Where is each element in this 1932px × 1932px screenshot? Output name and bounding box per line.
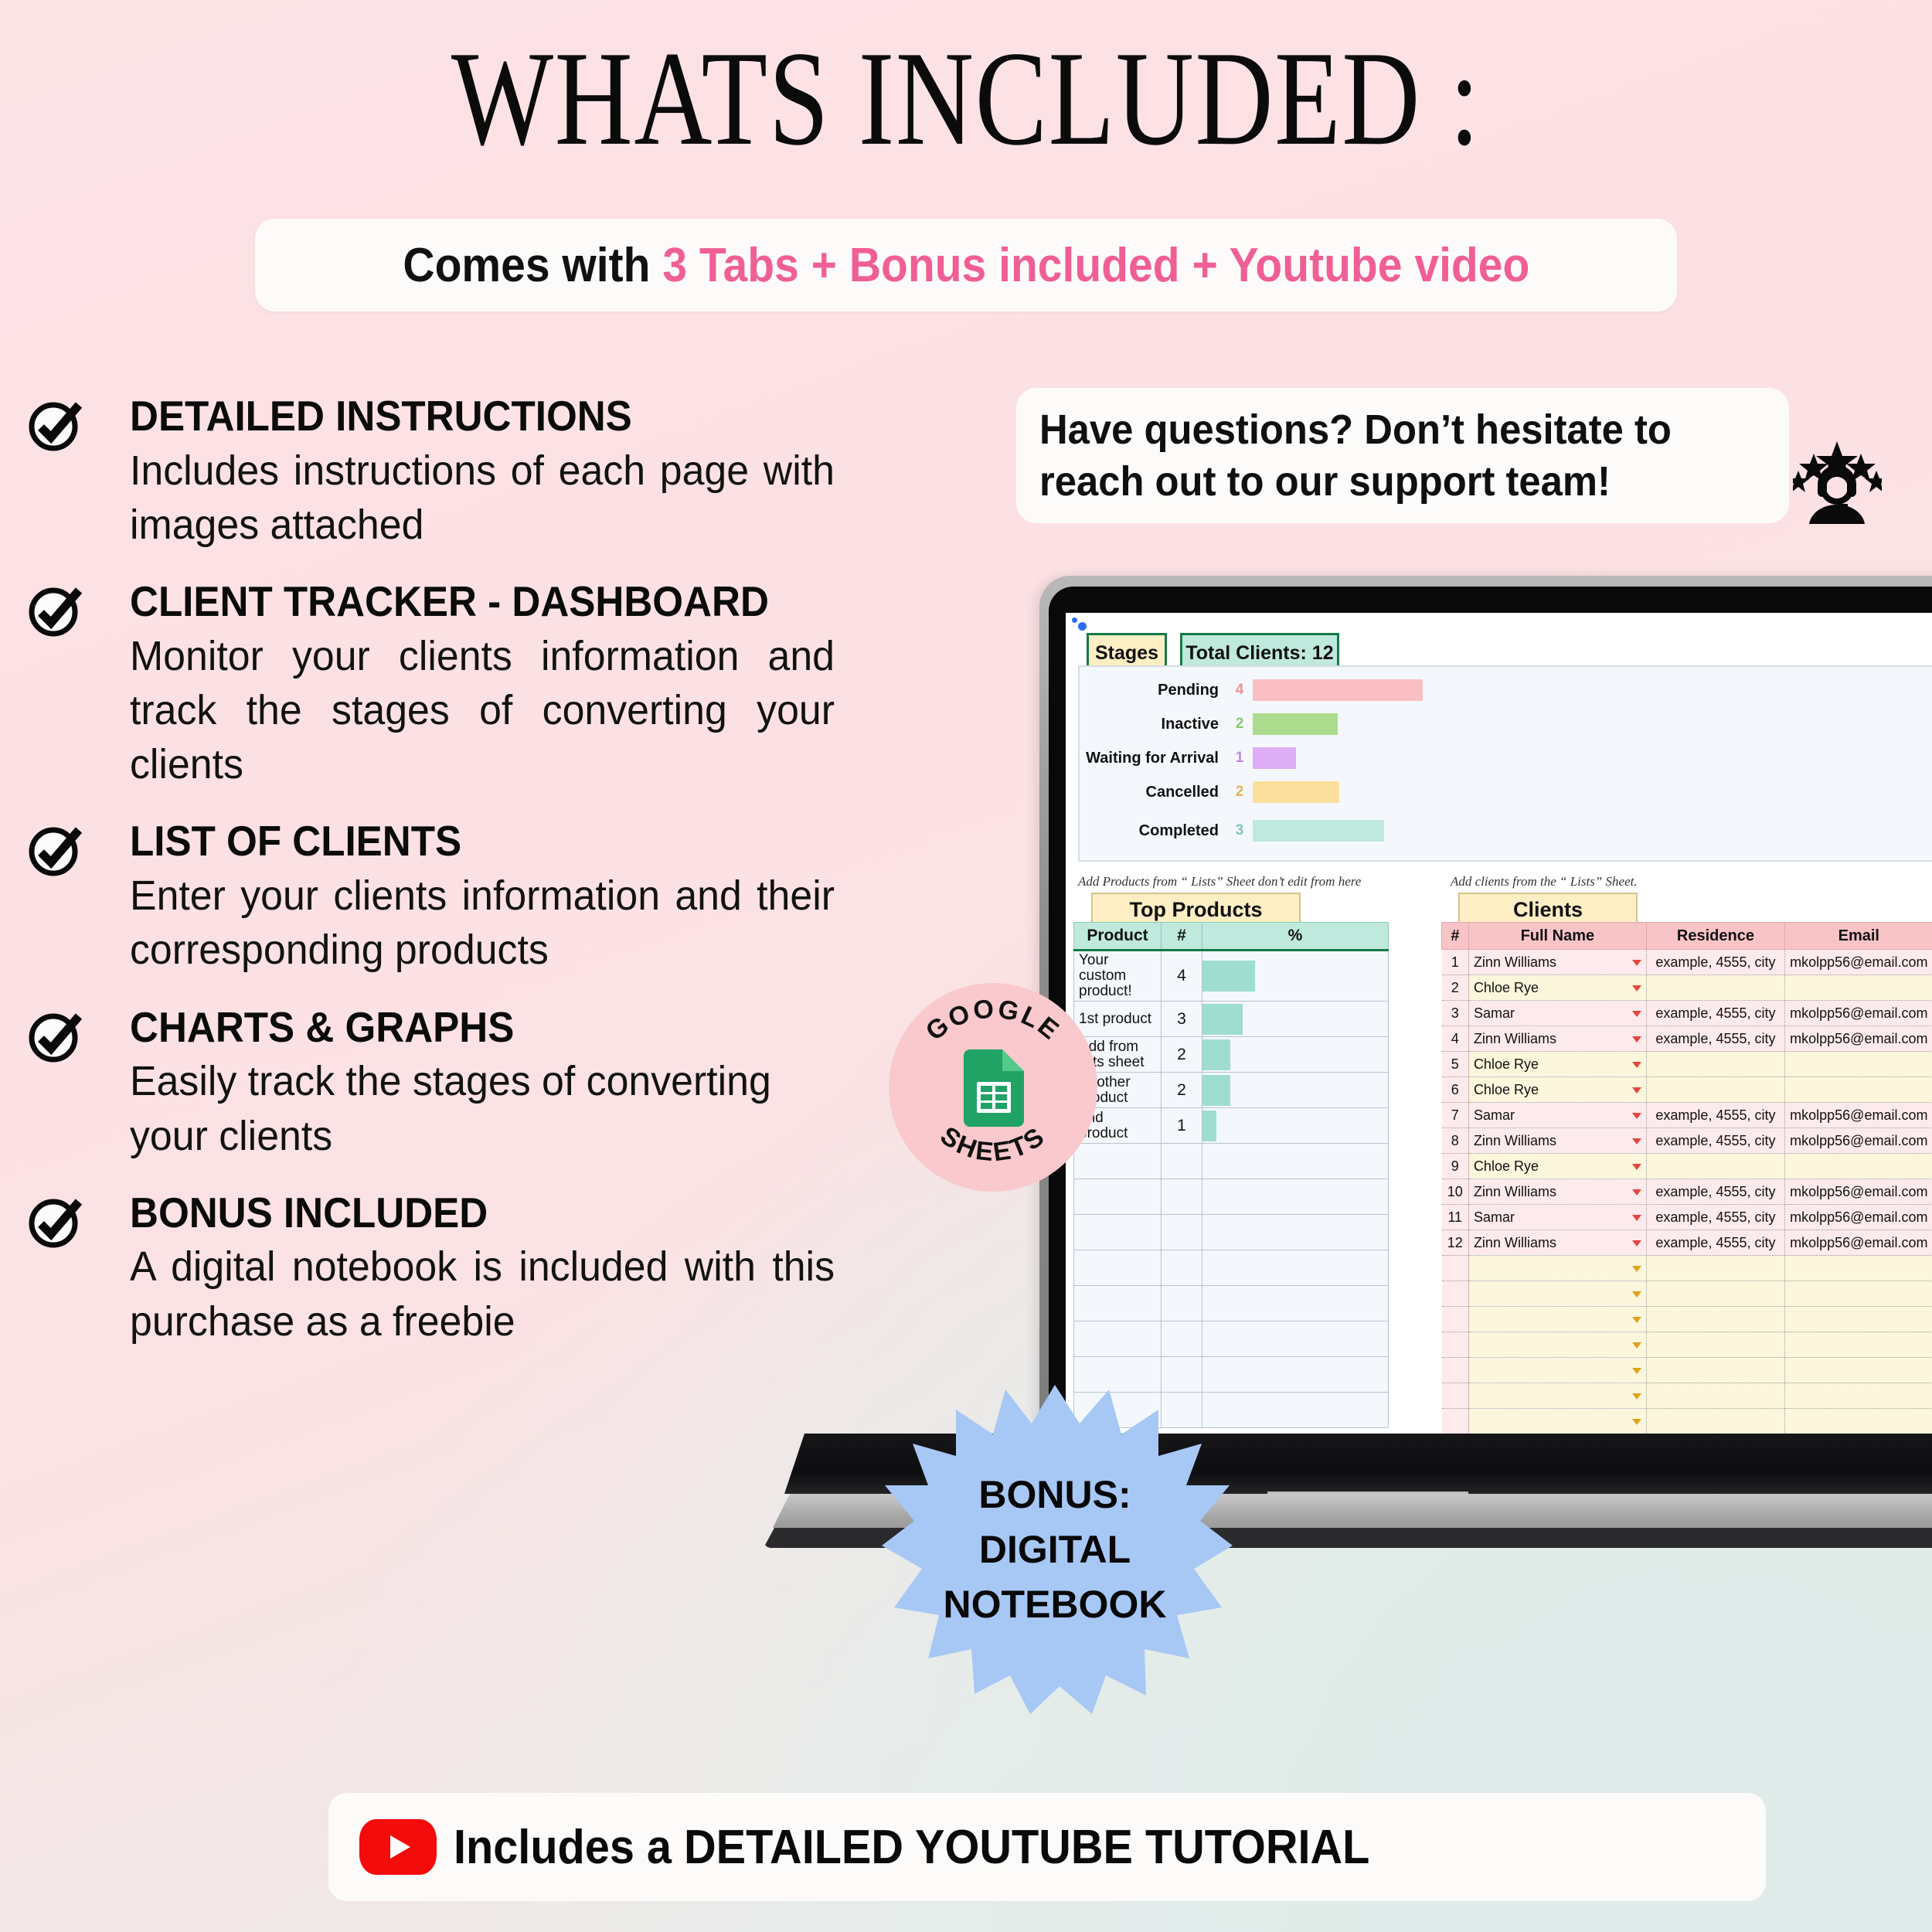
comes-with-prefix: Comes with (403, 239, 662, 292)
client-row-number: 6 (1442, 1077, 1469, 1103)
client-residence: example, 4555, city (1646, 1230, 1784, 1256)
bonus-line-1: BONUS: (978, 1468, 1131, 1522)
bar-category-label: Cancelled (1080, 784, 1226, 801)
table-row[interactable] (1442, 1307, 1932, 1332)
client-residence: example, 4555, city (1646, 1103, 1784, 1128)
product-count: 1 (1162, 1108, 1202, 1144)
feature-title: CLIENT TRACKER - DASHBOARD (130, 580, 864, 624)
bar-fill (1253, 713, 1338, 735)
product-count: 2 (1162, 1037, 1202, 1073)
dropdown-arrow-icon[interactable] (1632, 1266, 1641, 1272)
product-bar-cell (1202, 1073, 1389, 1108)
support-agent-stars-icon (1793, 437, 1882, 526)
empty-cell (1646, 1281, 1784, 1307)
check-circle-icon (28, 1194, 83, 1250)
products-hint-text: Add Products from “ Lists” Sheet don’t e… (1078, 874, 1361, 889)
client-residence (1646, 1077, 1784, 1103)
product-bar-cell (1202, 1037, 1389, 1073)
empty-cell (1468, 1358, 1646, 1383)
product-count: 4 (1162, 951, 1202, 1002)
dropdown-arrow-icon[interactable] (1632, 1291, 1641, 1298)
table-row[interactable]: 9Chloe Rye (1442, 1154, 1932, 1179)
dropdown-arrow-icon[interactable] (1632, 1240, 1641, 1247)
table-row[interactable]: 1st product 3 (1074, 1002, 1389, 1037)
client-email: mkolpp56@email.com (1785, 1205, 1932, 1230)
table-row[interactable] (1074, 1215, 1389, 1250)
client-email (1785, 1077, 1932, 1103)
empty-cell (1442, 1307, 1469, 1332)
empty-cell (1468, 1256, 1646, 1281)
youtube-tutorial-banner: Includes a DETAILED YOUTUBE TUTORIAL (328, 1793, 1766, 1901)
bar-fill (1202, 1039, 1230, 1070)
table-row[interactable]: 6Chloe Rye (1442, 1077, 1932, 1103)
dropdown-arrow-icon[interactable] (1632, 1011, 1641, 1017)
feature-body: A digital notebook is included with this… (130, 1240, 835, 1348)
dropdown-arrow-icon[interactable] (1632, 985, 1641, 992)
empty-cell (1442, 1332, 1469, 1358)
stages-bar-chart: Pending 4 Inactive 2 Waiting for Arrival… (1078, 665, 1932, 862)
empty-cell (1785, 1383, 1932, 1409)
empty-cell (1785, 1332, 1932, 1358)
empty-cell (1442, 1409, 1469, 1434)
bar-category-label: Waiting for Arrival (1080, 750, 1226, 767)
support-line-1: Have questions? Don’t hesitate to (1039, 404, 1672, 456)
dropdown-arrow-icon[interactable] (1632, 1087, 1641, 1094)
check-circle-icon (28, 822, 83, 878)
empty-cell (1468, 1409, 1646, 1434)
bar-fill (1253, 820, 1384, 842)
column-header: Full Name (1468, 923, 1646, 950)
client-full-name: Zinn Williams (1468, 1128, 1646, 1154)
dropdown-arrow-icon[interactable] (1632, 960, 1641, 966)
bar-fill (1202, 1111, 1216, 1141)
table-row[interactable]: 10Zinn Williamsexample, 4555, citymkolpp… (1442, 1179, 1932, 1205)
bar-category-label: Inactive (1080, 716, 1226, 733)
table-row[interactable]: Your custom product! 4 (1074, 951, 1389, 1002)
chart-bar-row: Waiting for Arrival 1 (1080, 741, 1932, 775)
cursor-indicator (1078, 622, 1087, 631)
client-email: mkolpp56@email.com (1785, 1230, 1932, 1256)
feature-body: Easily track the stages of converting yo… (130, 1054, 835, 1162)
table-row[interactable]: 5Chloe Rye (1442, 1052, 1932, 1077)
column-header: # (1442, 923, 1469, 950)
product-bar-cell (1202, 951, 1389, 1002)
column-header: Email (1785, 923, 1932, 950)
client-residence (1646, 1154, 1784, 1179)
table-row[interactable]: 7Samarexample, 4555, citymkolpp56@email.… (1442, 1103, 1932, 1128)
client-residence (1646, 975, 1784, 1001)
table-header-row: Product # % (1074, 923, 1389, 951)
feature-title: CHARTS & GRAPHS (130, 1005, 864, 1050)
empty-cell (1468, 1307, 1646, 1332)
client-residence (1646, 1052, 1784, 1077)
empty-cell (1785, 1358, 1932, 1383)
empty-cell (1646, 1409, 1784, 1434)
feature-body: Enter your clients information and their… (130, 869, 835, 977)
table-row[interactable] (1442, 1409, 1932, 1434)
column-header: Residence (1646, 923, 1784, 950)
empty-cell (1442, 1383, 1469, 1409)
client-residence: example, 4555, city (1646, 1026, 1784, 1052)
bar-fill (1253, 781, 1339, 803)
table-row[interactable] (1074, 1321, 1389, 1357)
table-row[interactable] (1442, 1281, 1932, 1307)
table-row[interactable] (1442, 1332, 1932, 1358)
support-callout-text: Have questions? Don’t hesitate to reach … (1039, 404, 1672, 508)
comes-with-accent: 3 Tabs + Bonus included + Youtube video (662, 239, 1529, 292)
client-residence: example, 4555, city (1646, 950, 1784, 975)
table-row[interactable]: 4Zinn Williamsexample, 4555, citymkolpp5… (1442, 1026, 1932, 1052)
table-row[interactable]: Add from lists sheet 2 (1074, 1037, 1389, 1073)
support-callout: Have questions? Don’t hesitate to reach … (1016, 388, 1789, 523)
google-word: GOOGLE (920, 994, 1066, 1046)
dropdown-arrow-icon[interactable] (1632, 1317, 1641, 1323)
bar-fill (1253, 679, 1423, 701)
feature-body: Includes instructions of each page with … (130, 444, 835, 552)
table-row[interactable] (1442, 1256, 1932, 1281)
dropdown-arrow-icon[interactable] (1632, 1113, 1641, 1119)
clients-table: # Full Name Residence Email Phone Custom… (1441, 922, 1932, 1434)
empty-cell (1646, 1358, 1784, 1383)
client-full-name: Zinn Williams (1468, 1026, 1646, 1052)
bar-category-label: Completed (1080, 823, 1226, 839)
empty-cell (1442, 1358, 1469, 1383)
clients-hint-text: Add clients from the “ Lists” Sheet. (1451, 874, 1638, 889)
empty-cell (1646, 1256, 1784, 1281)
bonus-badge-text: BONUS: DIGITAL NOTEBOOK (877, 1383, 1233, 1716)
client-email: mkolpp56@email.com (1785, 1001, 1932, 1026)
column-header: Product (1074, 923, 1162, 951)
empty-cell (1646, 1307, 1784, 1332)
client-row-number: 11 (1442, 1205, 1469, 1230)
products-hint: Add Products from “ Lists” Sheet don’t e… (1078, 874, 1361, 889)
table-row[interactable] (1442, 1358, 1932, 1383)
feature-list: DETAILED INSTRUCTIONS Includes instructi… (23, 394, 920, 1376)
client-full-name: Zinn Williams (1468, 1179, 1646, 1205)
client-full-name: Samar (1468, 1001, 1646, 1026)
bar-value-label: 4 (1226, 682, 1253, 699)
table-row[interactable]: 2Chloe Rye (1442, 975, 1932, 1001)
client-row-number: 4 (1442, 1026, 1469, 1052)
client-row-number: 12 (1442, 1230, 1469, 1256)
sheets-word: SHEETS (935, 1121, 1052, 1167)
bar-value-label: 2 (1226, 716, 1253, 733)
check-circle-icon (28, 583, 83, 638)
feature-title: LIST OF CLIENTS (130, 819, 864, 864)
client-full-name: Chloe Rye (1468, 1077, 1646, 1103)
client-email (1785, 1154, 1932, 1179)
feature-item-bonus-included: BONUS INCLUDED A digital notebook is inc… (23, 1191, 920, 1349)
client-full-name: Zinn Williams (1468, 950, 1646, 975)
empty-cell (1785, 1409, 1932, 1434)
bar-fill (1202, 1075, 1230, 1106)
dropdown-arrow-icon[interactable] (1632, 1393, 1641, 1400)
table-row[interactable]: 2nd product 1 (1074, 1108, 1389, 1144)
bar-fill (1202, 1004, 1243, 1035)
table-row[interactable] (1074, 1250, 1389, 1286)
empty-cell (1785, 1307, 1932, 1332)
clients-table-body: 1Zinn Williamsexample, 4555, citymkolpp5… (1442, 950, 1932, 1434)
laptop-mockup: Stages Total Clients: 12 Pending 4 Inact… (1039, 576, 1932, 1434)
feature-title: BONUS INCLUDED (130, 1191, 864, 1236)
client-full-name: Samar (1468, 1103, 1646, 1128)
empty-cell (1442, 1281, 1469, 1307)
product-count: 3 (1162, 1002, 1202, 1037)
client-full-name: Zinn Williams (1468, 1230, 1646, 1256)
table-row[interactable]: 12Zinn Williamsexample, 4555, citymkolpp… (1442, 1230, 1932, 1256)
client-full-name: Chloe Rye (1468, 1154, 1646, 1179)
client-email: mkolpp56@email.com (1785, 1128, 1932, 1154)
client-row-number: 7 (1442, 1103, 1469, 1128)
empty-cell (1785, 1281, 1932, 1307)
empty-cell (1785, 1256, 1932, 1281)
dropdown-arrow-icon[interactable] (1632, 1164, 1641, 1170)
bar-value-label: 2 (1226, 784, 1253, 801)
client-email: mkolpp56@email.com (1785, 1103, 1932, 1128)
page-title: WHATS INCLUDED : (193, 31, 1739, 166)
comes-with-banner: Comes with 3 Tabs + Bonus included + You… (255, 219, 1677, 311)
client-residence: example, 4555, city (1646, 1205, 1784, 1230)
client-residence: example, 4555, city (1646, 1179, 1784, 1205)
dropdown-arrow-icon[interactable] (1632, 1368, 1641, 1374)
feature-item-list-of-clients: LIST OF CLIENTS Enter your clients infor… (23, 819, 920, 977)
client-row-number: 5 (1442, 1052, 1469, 1077)
dropdown-arrow-icon[interactable] (1632, 1189, 1641, 1196)
table-row[interactable] (1074, 1179, 1389, 1215)
comes-with-text: Comes with 3 Tabs + Bonus included + You… (403, 238, 1529, 293)
empty-cell (1646, 1383, 1784, 1409)
client-row-number: 3 (1442, 1001, 1469, 1026)
product-bar-cell (1202, 1108, 1389, 1144)
client-row-number: 9 (1442, 1154, 1469, 1179)
laptop-screen: Stages Total Clients: 12 Pending 4 Inact… (1066, 613, 1932, 1434)
dropdown-arrow-icon[interactable] (1632, 1138, 1641, 1145)
client-full-name: Chloe Rye (1468, 975, 1646, 1001)
table-row[interactable] (1074, 1144, 1389, 1179)
empty-cell (1468, 1332, 1646, 1358)
laptop-bezel: Stages Total Clients: 12 Pending 4 Inact… (1049, 587, 1932, 1434)
client-row-number: 1 (1442, 950, 1469, 975)
empty-cell (1468, 1281, 1646, 1307)
google-sheets-badge: GOOGLE SHEETS (889, 983, 1097, 1192)
chart-bar-row: Inactive 2 (1080, 707, 1932, 741)
feature-item-client-tracker-dashboard: CLIENT TRACKER - DASHBOARD Monitor your … (23, 580, 920, 791)
client-row-number: 8 (1442, 1128, 1469, 1154)
clients-hint: Add clients from the “ Lists” Sheet. (1451, 874, 1638, 889)
table-header-row: # Full Name Residence Email Phone Custom (1442, 923, 1932, 950)
client-full-name: Chloe Rye (1468, 1052, 1646, 1077)
bar-value-label: 1 (1226, 750, 1253, 767)
bar-value-label: 3 (1226, 822, 1253, 839)
client-email (1785, 975, 1932, 1001)
spreadsheet-app: Stages Total Clients: 12 Pending 4 Inact… (1066, 613, 1932, 1417)
table-row[interactable]: 8Zinn Williamsexample, 4555, citymkolpp5… (1442, 1128, 1932, 1154)
table-row[interactable] (1074, 1286, 1389, 1321)
youtube-play-icon (359, 1819, 437, 1875)
table-row[interactable]: 1Zinn Williamsexample, 4555, citymkolpp5… (1442, 950, 1932, 975)
dropdown-arrow-icon[interactable] (1632, 1342, 1641, 1349)
promo-graphic: WHATS INCLUDED : Comes with 3 Tabs + Bon… (0, 0, 1932, 1932)
feature-item-charts-and-graphs: CHARTS & GRAPHS Easily track the stages … (23, 1005, 920, 1163)
table-row[interactable] (1442, 1383, 1932, 1409)
client-residence: example, 4555, city (1646, 1128, 1784, 1154)
column-header: % (1202, 923, 1389, 951)
feature-title: DETAILED INSTRUCTIONS (130, 394, 864, 439)
check-circle-icon (28, 397, 83, 453)
client-email: mkolpp56@email.com (1785, 1179, 1932, 1205)
check-circle-icon (28, 1009, 83, 1064)
client-email: mkolpp56@email.com (1785, 950, 1932, 975)
table-row[interactable]: 11Samarexample, 4555, citymkolpp56@email… (1442, 1205, 1932, 1230)
client-email: mkolpp56@email.com (1785, 1026, 1932, 1052)
support-line-2: reach out to our support team! (1039, 456, 1672, 508)
dropdown-arrow-icon[interactable] (1632, 1062, 1641, 1068)
bar-fill (1202, 961, 1255, 992)
table-row[interactable]: Another product 2 (1074, 1073, 1389, 1108)
empty-cell (1442, 1256, 1469, 1281)
bonus-line-3: NOTEBOOK (944, 1577, 1167, 1632)
client-row-number: 10 (1442, 1179, 1469, 1205)
top-products-table: Product # % Your custom product! 4 1st p… (1073, 922, 1389, 1428)
empty-cell (1468, 1383, 1646, 1409)
table-row[interactable]: 3Samarexample, 4555, citymkolpp56@email.… (1442, 1001, 1932, 1026)
chart-bar-row: Pending 4 (1080, 673, 1932, 707)
client-residence: example, 4555, city (1646, 1001, 1784, 1026)
client-email (1785, 1052, 1932, 1077)
feature-item-detailed-instructions: DETAILED INSTRUCTIONS Includes instructi… (23, 394, 920, 552)
chart-bar-row: Cancelled 2 (1080, 775, 1932, 809)
feature-body: Monitor your clients information and tra… (130, 629, 835, 792)
dropdown-arrow-icon[interactable] (1632, 1215, 1641, 1221)
bonus-line-2: DIGITAL (979, 1522, 1131, 1577)
google-sheets-logo-icon (964, 1049, 1024, 1127)
product-count: 2 (1162, 1073, 1202, 1108)
bonus-starburst-badge: BONUS: DIGITAL NOTEBOOK (877, 1383, 1233, 1716)
client-row-number: 2 (1442, 975, 1469, 1001)
bar-fill (1253, 747, 1296, 769)
client-full-name: Samar (1468, 1205, 1646, 1230)
column-header: # (1162, 923, 1202, 951)
bar-category-label: Pending (1080, 682, 1226, 699)
chart-bar-row: Completed 3 (1080, 814, 1932, 848)
product-bar-cell (1202, 1002, 1389, 1037)
empty-cell (1646, 1332, 1784, 1358)
dropdown-arrow-icon[interactable] (1632, 1036, 1641, 1043)
dropdown-arrow-icon[interactable] (1632, 1419, 1641, 1425)
youtube-tutorial-text: Includes a DETAILED YOUTUBE TUTORIAL (454, 1820, 1369, 1875)
